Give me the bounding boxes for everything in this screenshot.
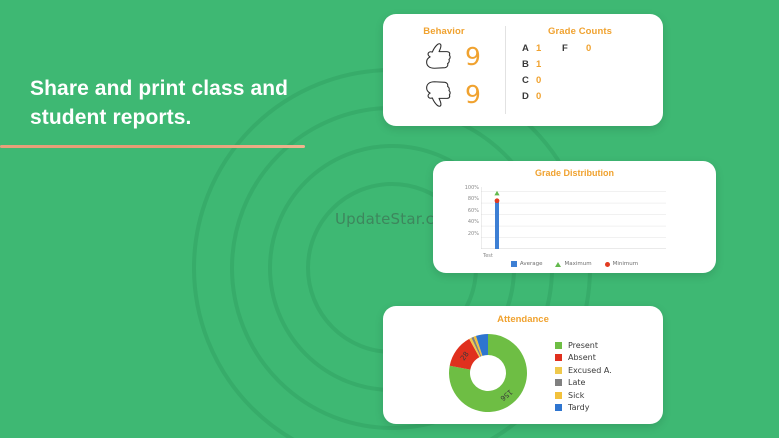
grade-spacer bbox=[586, 73, 606, 88]
attendance-legend-label: Tardy bbox=[568, 403, 589, 412]
legend-swatch-icon bbox=[555, 354, 562, 361]
grade-spacer bbox=[562, 57, 586, 72]
grade-letter-f: F bbox=[562, 41, 586, 56]
thumbs-down-icon bbox=[423, 80, 453, 108]
grade-count-f: 0 bbox=[586, 41, 606, 56]
legend-swatch-icon bbox=[555, 262, 561, 267]
attendance-legend-item[interactable]: Sick bbox=[555, 389, 612, 402]
attendance-legend-label: Late bbox=[568, 378, 585, 387]
grade-count-a: 1 bbox=[536, 41, 562, 56]
grade-counts-section: Grade Counts A 1 F 0 B 1 C 0 D 0 bbox=[506, 22, 663, 120]
legend-swatch-icon bbox=[555, 367, 562, 374]
grade-letter-c: C bbox=[522, 73, 536, 88]
behavior-section: Behavior 9 9 bbox=[383, 22, 505, 120]
x-axis-tick-label: Test bbox=[483, 253, 493, 259]
attendance-legend-label: Sick bbox=[568, 391, 584, 400]
legend-swatch-icon bbox=[605, 262, 610, 267]
grade-distribution-plot: 100%80%60%40%20% Test bbox=[481, 187, 666, 249]
attendance-legend-item[interactable]: Late bbox=[555, 377, 612, 390]
behavior-row-negative: 9 bbox=[383, 75, 505, 113]
attendance-legend-item[interactable]: Absent bbox=[555, 352, 612, 365]
grade-spacer bbox=[562, 89, 586, 104]
behavior-grade-counts-card: Behavior 9 9 Grade Counts bbox=[383, 14, 663, 126]
grade-count-c: 0 bbox=[536, 73, 562, 88]
legend-swatch-icon bbox=[555, 379, 562, 386]
behavior-negative-count: 9 bbox=[465, 82, 481, 107]
attendance-card: Attendance 15628 PresentAbsentExcused A.… bbox=[383, 306, 663, 424]
attendance-legend-label: Excused A. bbox=[568, 366, 612, 375]
grade-spacer bbox=[562, 73, 586, 88]
attendance-legend-item[interactable]: Present bbox=[555, 339, 612, 352]
y-tick-label: 100% bbox=[465, 185, 479, 191]
grade-count-b: 1 bbox=[536, 57, 562, 72]
y-axis-tick-labels: 100%80%60%40%20% bbox=[451, 183, 479, 245]
legend-swatch-icon bbox=[555, 392, 562, 399]
legend-swatch-icon bbox=[511, 261, 517, 267]
grade-count-d: 0 bbox=[536, 89, 562, 104]
grade-letter-a: A bbox=[522, 41, 536, 56]
plot-area bbox=[481, 187, 666, 249]
chart-legend-item[interactable]: Minimum bbox=[605, 261, 639, 267]
chart-legend-item[interactable]: Average bbox=[511, 261, 543, 267]
chart-legend-label: Average bbox=[520, 261, 543, 267]
attendance-legend-item[interactable]: Tardy bbox=[555, 402, 612, 415]
grade-distribution-card: Grade Distribution 100%80%60%40%20% Test… bbox=[433, 161, 716, 273]
legend-swatch-icon bbox=[555, 342, 562, 349]
chart-legend-item[interactable]: Maximum bbox=[555, 261, 591, 267]
attendance-legend-label: Absent bbox=[568, 353, 596, 362]
y-tick-label: 40% bbox=[468, 219, 479, 225]
grade-counts-grid: A 1 F 0 B 1 C 0 D 0 bbox=[522, 41, 663, 104]
grade-counts-heading: Grade Counts bbox=[522, 22, 663, 37]
grade-spacer bbox=[586, 89, 606, 104]
attendance-donut-chart: 15628 bbox=[447, 332, 529, 414]
y-tick-label: 80% bbox=[468, 196, 479, 202]
attendance-title: Attendance bbox=[383, 306, 663, 325]
chart-legend-label: Minimum bbox=[613, 261, 639, 267]
grade-distribution-title: Grade Distribution bbox=[433, 161, 716, 178]
grade-spacer bbox=[586, 57, 606, 72]
chart-legend: AverageMaximumMinimum bbox=[433, 261, 716, 267]
behavior-heading: Behavior bbox=[383, 22, 505, 37]
grade-letter-b: B bbox=[522, 57, 536, 72]
attendance-legend: PresentAbsentExcused A.LateSickTardy bbox=[555, 339, 612, 414]
chart-legend-label: Maximum bbox=[564, 261, 591, 267]
thumbs-up-icon bbox=[423, 42, 453, 70]
slide-canvas: Share and print class and student report… bbox=[0, 0, 779, 438]
behavior-row-positive: 9 bbox=[383, 37, 505, 75]
accent-divider bbox=[0, 145, 305, 148]
attendance-legend-item[interactable]: Excused A. bbox=[555, 364, 612, 377]
legend-swatch-icon bbox=[555, 404, 562, 411]
y-tick-label: 60% bbox=[468, 208, 479, 214]
behavior-positive-count: 9 bbox=[465, 44, 481, 69]
grade-letter-d: D bbox=[522, 89, 536, 104]
y-tick-label: 20% bbox=[468, 231, 479, 237]
page-title: Share and print class and student report… bbox=[30, 74, 330, 133]
attendance-legend-label: Present bbox=[568, 341, 598, 350]
